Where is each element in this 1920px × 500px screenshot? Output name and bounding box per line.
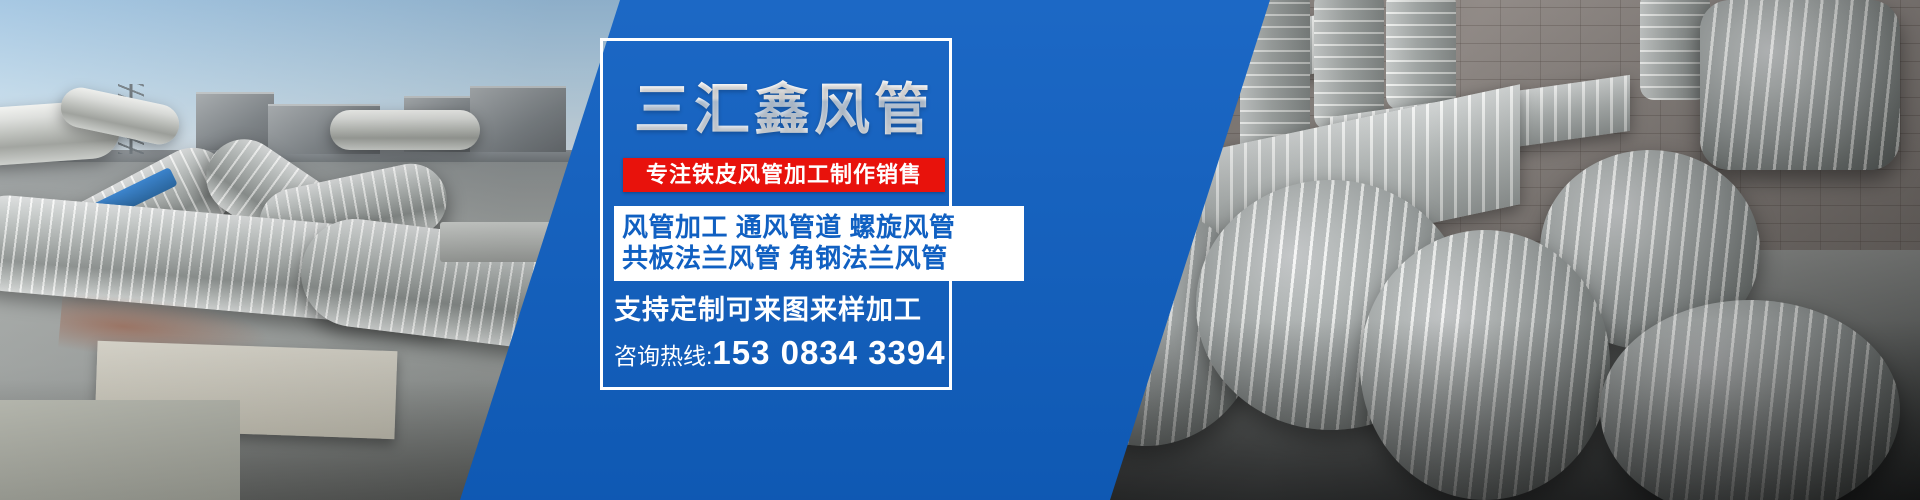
banner-content: 三汇鑫风管 专注铁皮风管加工制作销售 风管加工 通风管道 螺旋风管 共板法兰风管… <box>614 56 954 376</box>
service-line-2: 共板法兰风管 角钢法兰风管 <box>622 243 1016 274</box>
promo-banner: 三汇鑫风管 专注铁皮风管加工制作销售 风管加工 通风管道 螺旋风管 共板法兰风管… <box>0 0 1920 500</box>
service-list: 风管加工 通风管道 螺旋风管 共板法兰风管 角钢法兰风管 <box>614 206 1024 281</box>
tagline-badge: 专注铁皮风管加工制作销售 <box>623 158 945 192</box>
service-line-1: 风管加工 通风管道 螺旋风管 <box>622 212 1016 243</box>
brand-title: 三汇鑫风管 <box>614 56 954 144</box>
hotline-label: 咨询热线: <box>614 343 712 369</box>
hotline-row: 咨询热线:153 0834 3394 <box>614 333 954 380</box>
customization-note: 支持定制可来图来样加工 <box>614 293 954 327</box>
hotline-number[interactable]: 153 0834 3394 <box>712 334 945 371</box>
